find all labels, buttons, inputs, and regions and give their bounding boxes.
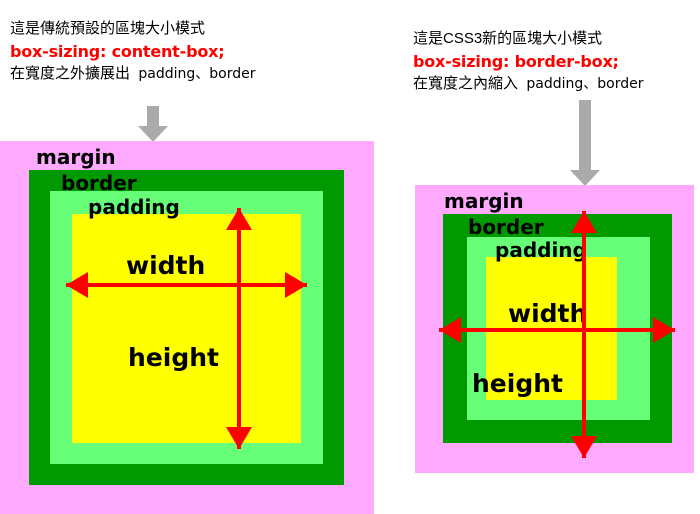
caption-left-line3-prefix: 在寬度之外擴展出 bbox=[10, 65, 130, 82]
caption-right-line3: 在寬度之內縮入 padding、border bbox=[413, 73, 643, 95]
caption-left-line3-mono: padding、border bbox=[138, 66, 255, 82]
caption-left-code: box-sizing: content-box; bbox=[10, 40, 255, 63]
arrow-head bbox=[570, 170, 600, 186]
arrow-down-icon bbox=[570, 100, 600, 186]
arrow-head-top bbox=[226, 208, 252, 230]
arrow-head-right bbox=[653, 317, 675, 343]
arrow-head-bottom bbox=[571, 436, 597, 458]
caption-content-box: 這是傳統預設的區塊大小模式 box-sizing: content-box; 在… bbox=[10, 18, 255, 85]
content-box-diagram: margin border padding width height bbox=[0, 141, 374, 514]
arrow-head bbox=[138, 126, 168, 142]
arrow-head-left bbox=[66, 272, 88, 298]
caption-left-line1: 這是傳統預設的區塊大小模式 bbox=[10, 18, 255, 40]
caption-left-line3: 在寬度之外擴展出 padding、border bbox=[10, 63, 255, 85]
height-arrow bbox=[571, 211, 597, 458]
margin-label: margin bbox=[36, 147, 116, 167]
height-label: height bbox=[472, 371, 563, 396]
arrow-head-left bbox=[439, 317, 461, 343]
arrow-bar bbox=[439, 328, 675, 332]
content-layer bbox=[72, 214, 301, 443]
arrow-shaft bbox=[579, 100, 591, 172]
caption-right-line1: 這是CSS3新的區塊大小模式 bbox=[413, 28, 643, 50]
arrow-down-icon bbox=[138, 106, 168, 142]
padding-label: padding bbox=[88, 197, 180, 217]
arrow-shaft bbox=[147, 106, 159, 128]
border-box-diagram: margin border padding width height bbox=[415, 185, 694, 473]
border-label: border bbox=[468, 217, 544, 237]
caption-right-line3-prefix: 在寬度之內縮入 bbox=[413, 75, 518, 92]
caption-right-code: box-sizing: border-box; bbox=[413, 50, 643, 73]
caption-right-line3-mono: padding、border bbox=[526, 76, 643, 92]
caption-border-box: 這是CSS3新的區塊大小模式 box-sizing: border-box; 在… bbox=[413, 28, 643, 95]
arrow-head-right bbox=[285, 272, 307, 298]
height-arrow bbox=[226, 208, 252, 449]
arrow-bar bbox=[66, 283, 307, 287]
border-label: border bbox=[61, 173, 137, 193]
width-label: width bbox=[126, 253, 205, 278]
arrow-head-top bbox=[571, 211, 597, 233]
margin-label: margin bbox=[444, 191, 524, 211]
height-label: height bbox=[128, 345, 219, 370]
arrow-bar bbox=[237, 208, 241, 449]
arrow-head-bottom bbox=[226, 427, 252, 449]
arrow-bar bbox=[582, 211, 586, 458]
